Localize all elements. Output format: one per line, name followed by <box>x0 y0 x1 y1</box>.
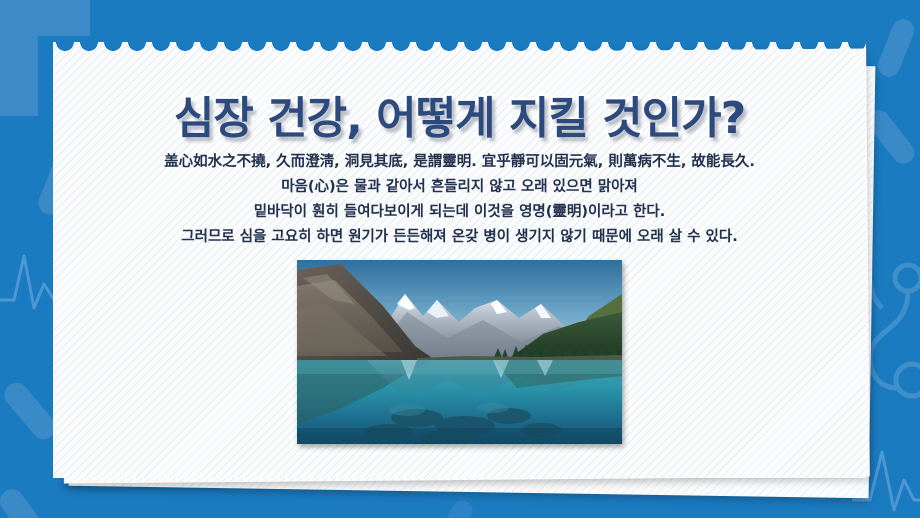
slide-canvas: 심장 건강, 어떻게 지킬 것인가? 盖心如水之不撓, 久而澄淸, 洞見其底, … <box>0 0 920 518</box>
slide-body-text: 盖心如水之不撓, 久而澄淸, 洞見其底, 是謂靈明. 宜乎靜可以固元氣, 則萬病… <box>53 150 866 250</box>
slide-title: 심장 건강, 어떻게 지킬 것인가? <box>53 82 866 146</box>
background-accent-strip-top <box>0 0 90 18</box>
body-line-3: 밑바닥이 훤히 들여다보이게 되는데 이것을 영명(靈明)이라고 한다. <box>53 200 866 225</box>
body-line-1: 盖心如水之不撓, 久而澄淸, 洞見其底, 是謂靈明. 宜乎靜可以固元氣, 則萬病… <box>53 150 866 175</box>
card-content-area: 심장 건강, 어떻게 지킬 것인가? 盖心如水之不撓, 久而澄淸, 洞見其底, … <box>53 42 866 478</box>
body-line-2: 마음(心)은 물과 같아서 흔들리지 않고 오래 있으면 맑아져 <box>53 175 866 200</box>
body-line-4: 그러므로 심을 고요히 하면 원기가 든든해져 온갖 병이 생기지 않기 때문에… <box>53 225 866 250</box>
mountain-lake-photo <box>297 260 622 444</box>
